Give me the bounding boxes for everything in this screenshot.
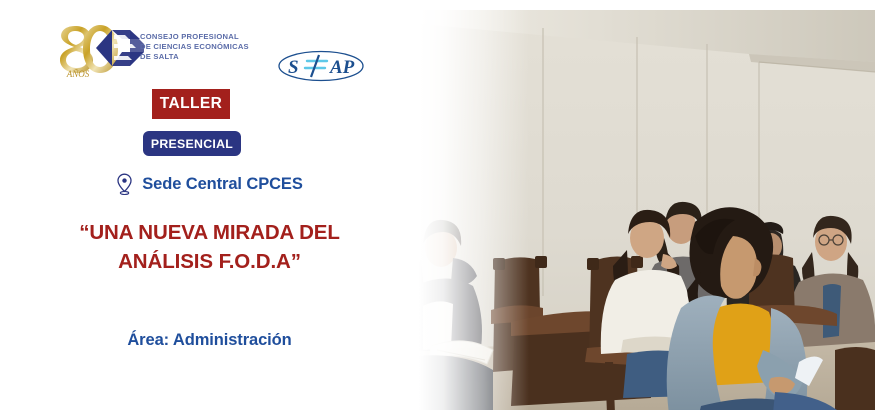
council-name-line1: CONSEJO PROFESIONAL: [140, 32, 270, 42]
council-name: CONSEJO PROFESIONAL DE CIENCIAS ECONÓMIC…: [140, 32, 270, 62]
event-photo: [419, 10, 875, 410]
badge-modality: PRESENCIAL: [143, 131, 241, 156]
logo-row: AÑOS CONSEJO PROFESIONAL DE: [0, 18, 419, 80]
map-pin-icon: [116, 173, 133, 195]
event-title-line2: ANÁLISIS F.O.D.A”: [20, 247, 399, 276]
council-name-line3: DE SALTA: [140, 52, 270, 62]
event-title: “UNA NUEVA MIRADA DEL ANÁLISIS F.O.D.A”: [20, 218, 399, 276]
event-flyer: AÑOS CONSEJO PROFESIONAL DE: [0, 0, 875, 410]
svg-text:S: S: [288, 57, 299, 78]
flyer-info-panel: AÑOS CONSEJO PROFESIONAL DE: [0, 0, 419, 410]
event-title-line1: “UNA NUEVA MIRADA DEL: [20, 218, 399, 247]
event-area: Área: Administración: [20, 331, 399, 350]
svg-text:AP: AP: [329, 57, 355, 78]
anniversary-word: AÑOS: [66, 69, 90, 78]
venue-row: Sede Central CPCES: [0, 173, 419, 195]
siap-logo-icon: S AP: [277, 49, 365, 83]
council-name-line2: DE CIENCIAS ECONÓMICAS: [140, 42, 270, 52]
badge-event-type: TALLER: [152, 89, 230, 119]
venue-label: Sede Central CPCES: [142, 175, 303, 194]
event-photo-image: [419, 10, 875, 410]
